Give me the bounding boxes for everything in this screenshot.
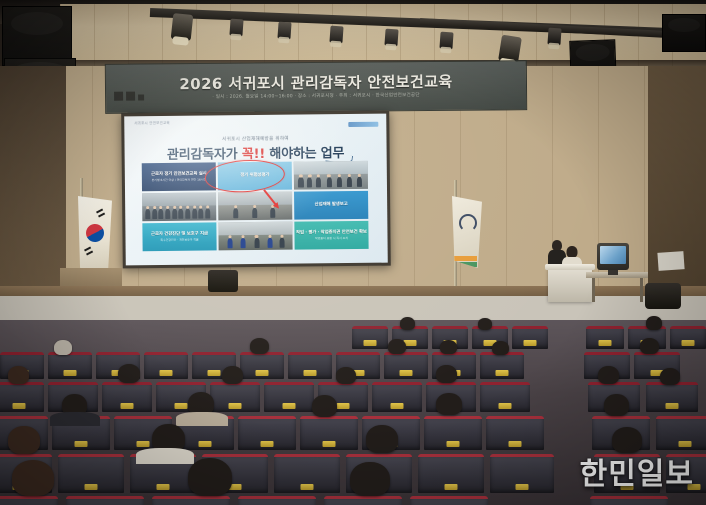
seat bbox=[0, 382, 44, 412]
audience-head bbox=[366, 425, 398, 453]
monitor-screen bbox=[600, 246, 626, 264]
seat bbox=[66, 496, 144, 505]
seat bbox=[0, 496, 58, 505]
slide-tile: 근로자 건강진단 및 보호구 지급 특수건강진단 · 개인보호구 착용 bbox=[142, 222, 216, 251]
flag-emblem-icon bbox=[459, 214, 477, 232]
seat bbox=[58, 454, 124, 493]
seat bbox=[238, 496, 316, 505]
audience-head bbox=[188, 458, 232, 496]
slide-header-note: 서귀포시 안전보건교육 bbox=[134, 120, 170, 125]
audience-head bbox=[440, 340, 457, 354]
wall-right-shadow bbox=[648, 66, 706, 308]
seat bbox=[512, 326, 548, 349]
event-banner: 2026 서귀포시 관리감독자 안전보건교육 · 일시 : 2026. 월요일 … bbox=[105, 60, 527, 114]
seat bbox=[410, 496, 488, 505]
seat bbox=[288, 352, 332, 379]
stage-spotlight-icon bbox=[547, 28, 561, 46]
seat bbox=[300, 416, 358, 450]
seat bbox=[490, 454, 554, 493]
projection-screen-frame: 서귀포시 안전보건교육 서귀포시 산업재해예방을 위하여 관리감독자가 꼭!! … bbox=[121, 111, 391, 269]
equipment-case-left bbox=[208, 270, 238, 292]
seat bbox=[590, 496, 668, 505]
seat bbox=[152, 496, 230, 505]
seat bbox=[480, 352, 524, 379]
slide-tile-photo bbox=[218, 222, 292, 251]
slide-tile-photo bbox=[142, 192, 216, 221]
city-organization-flag bbox=[452, 196, 482, 268]
seat bbox=[274, 454, 340, 493]
slide-tile-line2: 특수건강진단 · 개인보호구 착용 bbox=[160, 238, 198, 242]
slide-tile-line2: 분기별 6시간 이상 / 관리감독자 연간 16시간 bbox=[152, 178, 207, 182]
seat bbox=[418, 454, 484, 493]
seat bbox=[240, 352, 284, 379]
seat bbox=[656, 416, 706, 450]
notice-paper bbox=[657, 251, 684, 271]
slide-logo-icon bbox=[348, 122, 378, 127]
wall-left-shadow bbox=[0, 66, 66, 308]
seat bbox=[480, 382, 530, 412]
korean-national-flag bbox=[78, 196, 112, 274]
seat bbox=[424, 416, 482, 450]
seat bbox=[238, 416, 296, 450]
audience-head bbox=[312, 395, 337, 417]
seat bbox=[646, 382, 698, 412]
audience-head bbox=[604, 394, 629, 416]
slide-title-pre: 관리감독자가 bbox=[167, 147, 242, 163]
monitor-stand bbox=[608, 270, 618, 275]
audience-head bbox=[8, 366, 29, 384]
audience-head bbox=[222, 366, 243, 384]
seat bbox=[144, 352, 188, 379]
seat bbox=[324, 496, 402, 505]
seat bbox=[352, 326, 388, 349]
seat bbox=[384, 352, 428, 379]
seat bbox=[372, 382, 422, 412]
stage-spotlight-icon bbox=[498, 35, 522, 64]
stage-spotlight-icon bbox=[329, 26, 343, 44]
podium-top-surface bbox=[545, 264, 595, 270]
seat bbox=[48, 352, 92, 379]
audience-head bbox=[640, 338, 659, 354]
auditorium-photo: 2026 서귀포시 관리감독자 안전보건교육 · 일시 : 2026. 월요일 … bbox=[0, 0, 706, 505]
slide-tile-line2: 작업중지 요청 시 즉시 조치 bbox=[315, 237, 348, 241]
control-monitor bbox=[597, 243, 629, 270]
taeguk-symbol-icon bbox=[83, 221, 107, 245]
seat bbox=[264, 382, 314, 412]
stage-spotlight-icon bbox=[439, 32, 453, 50]
audience-head bbox=[12, 460, 54, 496]
audience-head bbox=[8, 426, 40, 454]
slide-tile-line1: 작업 · 평가 · 작업중지권 안전보건 확보 bbox=[296, 229, 367, 235]
audience-head bbox=[54, 340, 72, 355]
audience-head bbox=[646, 316, 662, 330]
projection-screen: 서귀포시 안전보건교육 서귀포시 산업재해예방을 위하여 관리감독자가 꼭!! … bbox=[124, 114, 388, 266]
seat bbox=[670, 326, 706, 349]
seat bbox=[586, 326, 624, 349]
audience-head bbox=[660, 368, 680, 385]
seat bbox=[102, 382, 152, 412]
slide-tile: 작업 · 평가 · 작업중지권 안전보건 확보 작업중지 요청 시 즉시 조치 bbox=[294, 221, 368, 250]
slide-tile-line1: 산업재해 발생보고 bbox=[315, 202, 348, 208]
stage-spotlight-icon bbox=[384, 29, 398, 47]
audience-head bbox=[598, 366, 619, 384]
audience-head bbox=[478, 318, 492, 330]
ceiling-speaker-far-right bbox=[662, 14, 706, 52]
seat bbox=[486, 416, 544, 450]
slide-tile-line1: 근로자 건강진단 및 보호구 지급 bbox=[151, 231, 208, 237]
audience-head bbox=[436, 393, 462, 415]
audience-head bbox=[400, 317, 415, 330]
slide-tile: 산업재해 발생보고 bbox=[294, 191, 368, 220]
audience-head bbox=[250, 338, 269, 354]
seat bbox=[210, 382, 260, 412]
equipment-bag-right bbox=[645, 283, 681, 309]
av-desk-leg bbox=[592, 278, 595, 302]
ceiling-speaker-left-upper bbox=[2, 6, 72, 66]
audience-head bbox=[336, 367, 356, 384]
slide-tile-line1: 근로자 정기 안전보건교육 실시 bbox=[151, 171, 207, 177]
audience-head bbox=[492, 341, 509, 355]
stage-spotlight-icon bbox=[229, 19, 243, 37]
stage-spotlight-icon bbox=[277, 22, 291, 40]
av-desk-leg bbox=[640, 278, 643, 302]
audience-head bbox=[388, 339, 406, 354]
audience-head bbox=[118, 364, 140, 383]
banner-logo-right-icon bbox=[468, 69, 520, 97]
audience-head bbox=[350, 462, 390, 496]
slide-tile-photo bbox=[294, 161, 368, 190]
audience-head bbox=[436, 365, 457, 383]
stage-spotlight-icon bbox=[171, 13, 194, 41]
press-watermark: 한민일보 bbox=[580, 449, 694, 493]
